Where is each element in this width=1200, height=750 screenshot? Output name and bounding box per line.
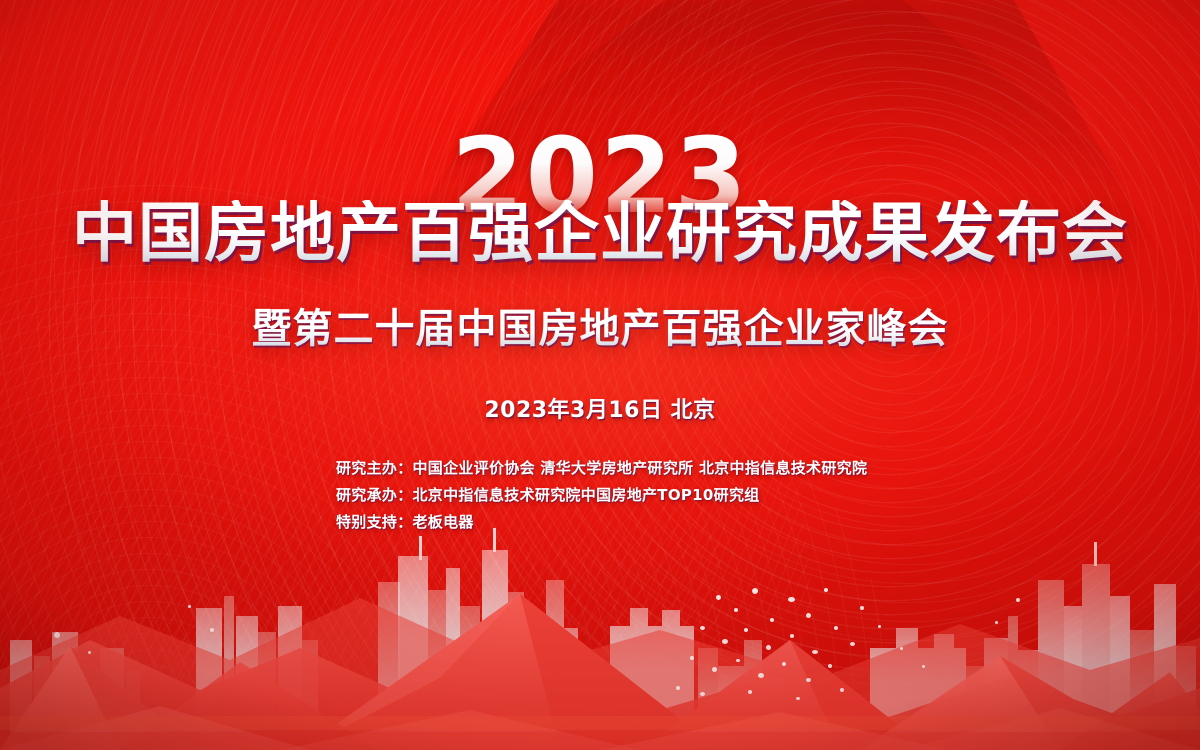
backdrop-vignette [0,0,1200,750]
event-stage-backdrop: 2023 中国房地产百强企业研究成果发布会 暨第二十届中国房地产百强企业家峰会 … [0,0,1200,750]
